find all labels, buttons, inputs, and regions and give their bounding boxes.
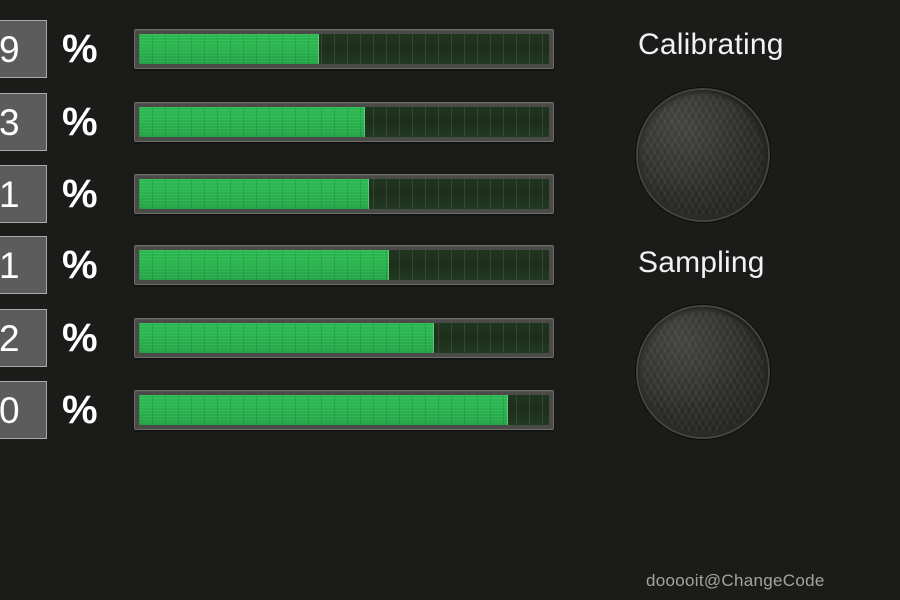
rotary-knob[interactable] [638,90,768,220]
meter-progress-track [139,395,549,425]
meter-percent-sign: % [62,236,98,294]
meter-progress-bar[interactable] [134,318,554,358]
meter-percent-sign: % [62,93,98,151]
meter-value-text: 2 [0,320,20,357]
meter-progress-fill [139,34,319,64]
meter-value-box: 3 [0,93,47,151]
meter-progress-bar[interactable] [134,102,554,142]
meter-value-text: 9 [0,31,20,68]
meter-progress-track [139,250,549,280]
meter-progress-bar[interactable] [134,174,554,214]
meter-progress-bar[interactable] [134,29,554,69]
status-label: Sampling [638,248,765,278]
meter-progress-fill [139,323,434,353]
instrument-panel: 9%3%1%1%2%0% CalibratingSampling dooooit… [0,0,900,600]
meter-row: 1% [0,236,900,294]
meter-value-box: 1 [0,165,47,223]
meter-value-box: 2 [0,309,47,367]
status-label: Calibrating [638,30,784,60]
meter-value-box: 1 [0,236,47,294]
meter-progress-bar[interactable] [134,245,554,285]
watermark-label: dooooit@ChangeCode [646,571,825,591]
meter-value-text: 0 [0,392,20,429]
meter-progress-bar[interactable] [134,390,554,430]
meter-progress-fill [139,250,389,280]
meter-progress-fill [139,179,369,209]
meter-value-box: 0 [0,381,47,439]
meter-progress-track [139,179,549,209]
meter-value-text: 3 [0,104,20,141]
meter-progress-track [139,107,549,137]
knob-gloss [638,90,768,220]
meter-value-text: 1 [0,247,20,284]
meter-percent-sign: % [62,381,98,439]
meter-progress-fill [139,395,508,425]
knob-gloss [638,307,768,437]
meter-value-box: 9 [0,20,47,78]
meter-progress-track [139,323,549,353]
meter-percent-sign: % [62,165,98,223]
rotary-knob[interactable] [638,307,768,437]
meter-percent-sign: % [62,20,98,78]
meter-percent-sign: % [62,309,98,367]
meter-progress-track [139,34,549,64]
meter-progress-fill [139,107,365,137]
meter-value-text: 1 [0,176,20,213]
